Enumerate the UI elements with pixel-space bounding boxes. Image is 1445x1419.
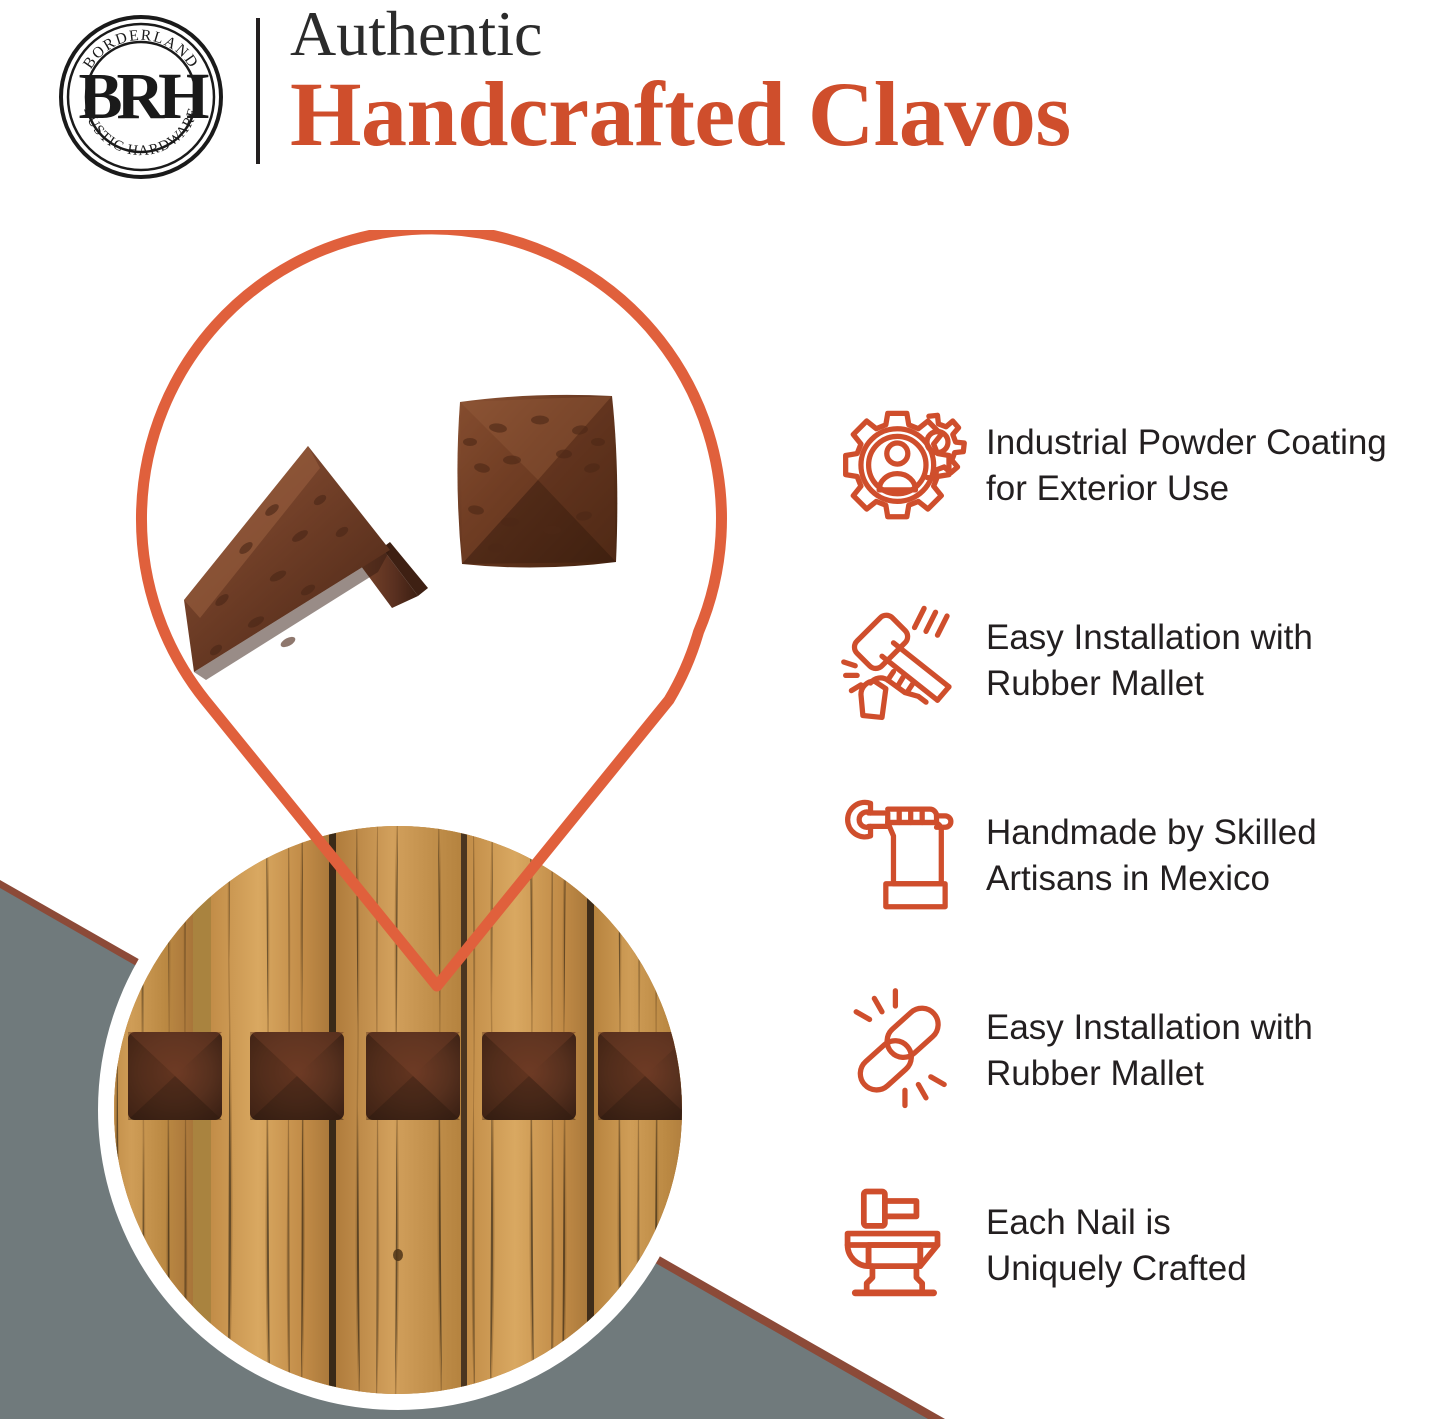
gear-person-icon (838, 397, 976, 535)
feature-line-1: Easy Installation with (986, 615, 1445, 661)
feature-text: Easy Installation with Rubber Mallet (976, 1005, 1445, 1097)
feature-list: Industrial Powder Coating for Exterior U… (838, 368, 1445, 1343)
anvil-hammer-icon (838, 1177, 976, 1315)
callout-pin-outline (100, 230, 780, 1010)
header: BORDERLAND RUSTIC HARDWARE BRH Authentic… (0, 0, 1445, 200)
feature-row: Each Nail is Uniquely Crafted (838, 1148, 1445, 1343)
feature-line-2: Uniquely Crafted (986, 1246, 1445, 1292)
page-title-line-2: Handcrafted Clavos (290, 66, 1430, 162)
svg-text:BRH: BRH (78, 60, 209, 133)
clavo-row (128, 1032, 692, 1120)
brand-logo-icon: BORDERLAND RUSTIC HARDWARE BRH (56, 12, 226, 182)
feature-row: Easy Installation with Rubber Mallet (838, 953, 1445, 1148)
fist-wrench-icon (838, 787, 976, 925)
feature-line-2: Rubber Mallet (986, 661, 1445, 707)
chain-link-icon (838, 982, 976, 1120)
page-title-line-1: Authentic (290, 2, 1430, 66)
hand-mallet-icon (838, 592, 976, 730)
title-block: Authentic Handcrafted Clavos (290, 2, 1430, 162)
feature-line-1: Handmade by Skilled (986, 810, 1445, 856)
feature-line-2: for Exterior Use (986, 466, 1445, 512)
header-divider (256, 18, 260, 164)
feature-text: Handmade by Skilled Artisans in Mexico (976, 810, 1445, 902)
feature-text: Each Nail is Uniquely Crafted (976, 1200, 1445, 1292)
feature-text: Easy Installation with Rubber Mallet (976, 615, 1445, 707)
feature-row: Easy Installation with Rubber Mallet (838, 563, 1445, 758)
feature-text: Industrial Powder Coating for Exterior U… (976, 420, 1445, 512)
feature-line-1: Each Nail is (986, 1200, 1445, 1246)
infographic-page: BORDERLAND RUSTIC HARDWARE BRH Authentic… (0, 0, 1445, 1419)
feature-line-1: Easy Installation with (986, 1005, 1445, 1051)
feature-row: Handmade by Skilled Artisans in Mexico (838, 758, 1445, 953)
feature-line-1: Industrial Powder Coating (986, 420, 1445, 466)
feature-line-2: Rubber Mallet (986, 1051, 1445, 1097)
feature-row: Industrial Powder Coating for Exterior U… (838, 368, 1445, 563)
feature-line-2: Artisans in Mexico (986, 856, 1445, 902)
